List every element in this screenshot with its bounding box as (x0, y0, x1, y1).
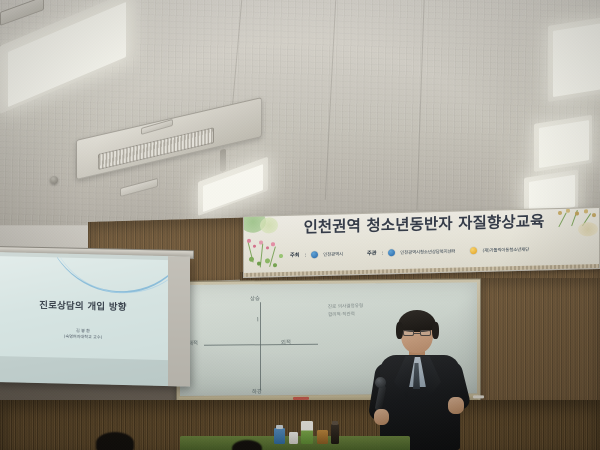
projection-screen: 진로상담의 개입 방향 김 봉 환 (숙명여자대학교 교수) (0, 252, 190, 387)
incheon-city-logo-icon (311, 251, 318, 258)
presenter-hand-holding-mic (374, 409, 389, 425)
dark-bottle (331, 424, 339, 444)
white-paper-cup (289, 432, 298, 444)
microphone-head (375, 377, 386, 388)
banner-host-colon: : (305, 252, 307, 258)
screen-edge-wall (168, 256, 190, 387)
eyeglass-lens-left (403, 330, 414, 336)
sprinkler-head (50, 176, 58, 184)
ceiling-light-4 (539, 120, 589, 168)
presentation-slide: 진로상담의 개입 방향 김 봉 환 (숙명여자대학교 교수) (0, 256, 168, 360)
presenter-eyeglasses (403, 330, 431, 336)
presenter-speaker (368, 305, 476, 450)
bottle-cap (332, 421, 338, 425)
presenter-hair (398, 310, 436, 332)
whiteboard-label-bottom: 하강 (252, 387, 262, 395)
youth-center-logo-icon (388, 249, 395, 256)
banner-host-label: 주최 (290, 252, 300, 259)
foundation-logo-icon (470, 247, 477, 254)
banner-organizer-label: 주관 (367, 250, 377, 257)
slide-title: 진로상담의 개입 방향 (0, 296, 168, 314)
whiteboard-label-top: 상승 (250, 294, 260, 302)
ac-vane (220, 149, 226, 172)
event-banner: 인천권역 청소년동반자 자질향상교육 주최 : 인천광역시 주관 : 인천광역시… (243, 207, 600, 278)
banner-credits: 주최 : 인천광역시 주관 : 인천광역시청소년상담복지센터 (재)가톨릭아동청… (290, 244, 590, 259)
presenter-hair-side-left (396, 322, 403, 339)
eyeglass-bridge (414, 333, 420, 334)
whiteboard-label-right: 외적 (281, 338, 291, 346)
banner-title: 인천권역 청소년동반자 자질향상교육 (290, 213, 558, 237)
slide-presenter: 김 봉 환 (숙명여자대학교 교수) (0, 326, 168, 343)
banner-organizer-colon: : (382, 250, 384, 256)
eyeglass-lens-right (420, 330, 431, 336)
banner-partner-name: (재)가톨릭아동청소년재단 (482, 246, 529, 253)
audience-head-1 (96, 432, 134, 450)
slide-swoosh-decor-2 (49, 256, 168, 298)
blue-can-cap (276, 425, 283, 429)
audience-head-2 (232, 440, 262, 450)
ceiling-light-3 (553, 23, 600, 97)
banner-organizer-name: 인천광역시청소년상담복지센터 (400, 248, 455, 255)
presenter-gesturing-hand (448, 397, 464, 414)
whiteboard-note: 진로 의사결정유형 합리적·직관적 (328, 303, 364, 320)
honey-jar (317, 430, 328, 444)
blue-beverage-can (274, 428, 285, 444)
banner-host-name: 인천광역시 (323, 251, 343, 257)
milk-carton (301, 421, 313, 444)
lecture-hall-scene: 인천권역 청소년동반자 자질향상교육 주최 : 인천광역시 주관 : 인천광역시… (0, 0, 600, 450)
ceiling (0, 0, 600, 232)
whiteboard-axis-vertical (260, 302, 261, 390)
whiteboard-label-center: I (257, 316, 259, 323)
wood-wall-right (478, 278, 600, 404)
presenter-hair-side-right (432, 322, 439, 339)
